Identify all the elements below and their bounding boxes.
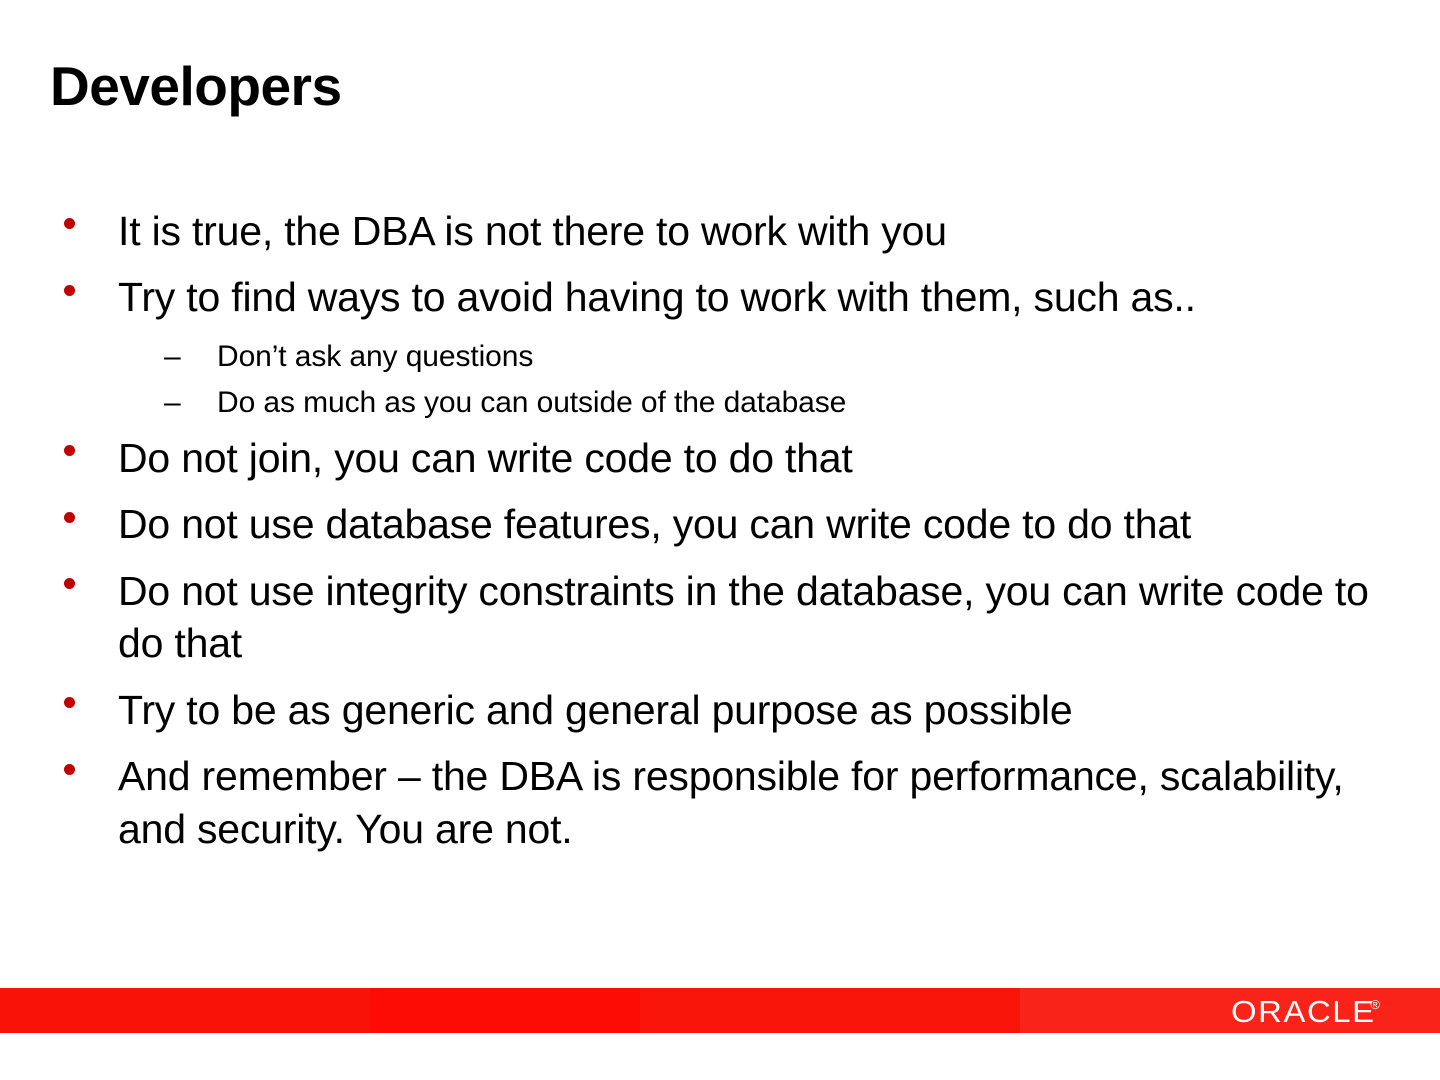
bullet-dot-icon (64, 498, 86, 550)
list-item: Try to find ways to avoid having to work… (52, 271, 1412, 323)
bullet-dot-icon (64, 271, 86, 323)
bullet-dot-icon (64, 684, 86, 736)
list-item: Do not use integrity constraints in the … (52, 565, 1412, 670)
bullet-dot-icon (64, 750, 86, 802)
sub-list-item: – Do as much as you can outside of the d… (52, 384, 1412, 422)
list-item-text: Do not use integrity constraints in the … (118, 568, 1369, 666)
list-item: Try to be as generic and general purpose… (52, 684, 1412, 736)
footer-segment-3 (640, 988, 1020, 1033)
list-item-text: Try to find ways to avoid having to work… (118, 274, 1196, 320)
list-item-text: Do not join, you can write code to do th… (118, 435, 853, 481)
sub-list-item-text: Do as much as you can outside of the dat… (217, 386, 846, 419)
bullet-dash-icon: – (164, 338, 190, 376)
oracle-logo-text: ORACLE (1231, 996, 1376, 1027)
bullet-dot-icon (64, 432, 86, 484)
list-item: It is true, the DBA is not there to work… (52, 205, 1412, 257)
footer-bar (0, 988, 1440, 1033)
list-item-text: And remember – the DBA is responsible fo… (118, 753, 1344, 851)
page-title: Developers (50, 58, 342, 116)
bullet-dot-icon (64, 205, 86, 257)
list-item: Do not use database features, you can wr… (52, 498, 1412, 550)
list-item-text: It is true, the DBA is not there to work… (118, 208, 947, 254)
list-item-text: Try to be as generic and general purpose… (118, 687, 1072, 733)
bullet-dash-icon: – (164, 384, 190, 422)
bullet-list: It is true, the DBA is not there to work… (52, 205, 1412, 869)
list-item-text: Do not use database features, you can wr… (118, 501, 1191, 547)
list-item: Do not join, you can write code to do th… (52, 432, 1412, 484)
oracle-logo: ORACLE ® (1231, 997, 1380, 1025)
sub-list-item: – Don’t ask any questions (52, 338, 1412, 376)
footer-segment-2 (370, 988, 640, 1033)
list-item: And remember – the DBA is responsible fo… (52, 750, 1412, 855)
slide-canvas: Developers It is true, the DBA is not th… (0, 0, 1440, 1080)
footer-segment-1 (0, 988, 370, 1033)
sub-list-item-text: Don’t ask any questions (217, 340, 533, 373)
bullet-dot-icon (64, 565, 86, 617)
